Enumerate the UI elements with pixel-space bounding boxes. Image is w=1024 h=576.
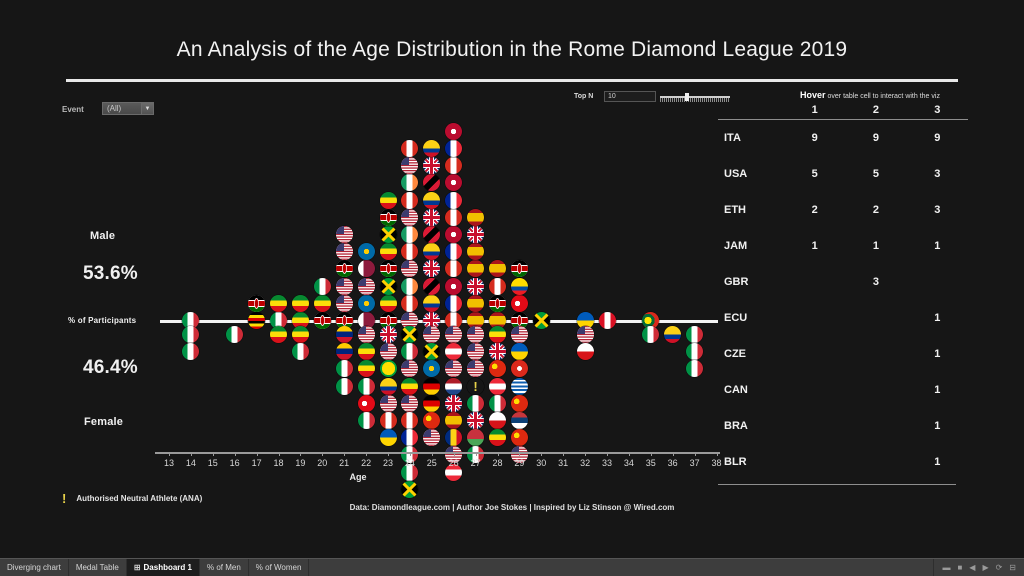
athlete-dot-female-24-2[interactable] xyxy=(401,360,418,377)
flag-usa-icon xyxy=(467,360,484,377)
athlete-dot-male-26-6[interactable] xyxy=(445,209,462,226)
athlete-dot-female-28-3[interactable] xyxy=(489,378,506,395)
flag-usa-icon xyxy=(577,326,594,343)
athlete-dot-female-32-1[interactable] xyxy=(577,343,594,360)
athlete-dot-female-22-1[interactable] xyxy=(358,343,375,360)
medal-table-header-row: 1 2 3 xyxy=(718,104,968,120)
flag-usa-icon xyxy=(401,157,418,174)
country-cell[interactable]: USA xyxy=(718,156,784,192)
country-cell[interactable]: CAN xyxy=(718,372,784,408)
athlete-dot-male-24-5[interactable] xyxy=(401,226,418,243)
athlete-dot-female-27-6[interactable] xyxy=(467,429,484,446)
hover-hint-strong: Hover xyxy=(800,90,826,100)
female-label: Female xyxy=(84,416,123,428)
table-row[interactable]: BLR1 xyxy=(718,444,968,480)
x-tick-label-26: 26 xyxy=(444,458,464,468)
athlete-dot-male-21-4[interactable] xyxy=(336,243,353,260)
athlete-dot-female-24-0[interactable] xyxy=(401,326,418,343)
athlete-dot-male-25-1[interactable] xyxy=(423,295,440,312)
athlete-dot-female-22-2[interactable] xyxy=(358,360,375,377)
athlete-dot-male-21-1[interactable] xyxy=(336,295,353,312)
athlete-dot-female-27-4[interactable] xyxy=(467,395,484,412)
athlete-dot-male-26-8[interactable] xyxy=(445,174,462,191)
flag-ken-icon xyxy=(489,295,506,312)
flag-usa-icon xyxy=(336,295,353,312)
athlete-dot-female-36-0[interactable] xyxy=(664,326,681,343)
bronze-cell[interactable]: 1 xyxy=(907,408,968,444)
bronze-cell[interactable]: 3 xyxy=(907,156,968,192)
dashboard-root: An Analysis of the Age Distribution in t… xyxy=(0,0,1024,576)
x-tick-label-33: 33 xyxy=(597,458,617,468)
athlete-dot-female-27-3[interactable]: ! xyxy=(467,378,484,395)
athlete-dot-male-23-6[interactable] xyxy=(380,209,397,226)
silver-cell[interactable]: 2 xyxy=(845,192,906,228)
dot-column-age-36[interactable] xyxy=(664,0,682,460)
athlete-dot-female-23-4[interactable] xyxy=(380,395,397,412)
sheet-tab-dashboard-1[interactable]: ⊞Dashboard 1 xyxy=(127,559,200,576)
dot-column-age-14[interactable] xyxy=(182,0,200,460)
athlete-dot-male-24-3[interactable] xyxy=(401,260,418,277)
table-row[interactable]: CAN1 xyxy=(718,372,968,408)
sheet-tab-diverging-chart[interactable]: Diverging chart xyxy=(0,559,69,576)
dot-column-age-30[interactable] xyxy=(533,0,551,460)
dot-column-age-18[interactable] xyxy=(270,0,288,460)
table-row[interactable]: BRA1 xyxy=(718,408,968,444)
next-icon[interactable]: ▶ xyxy=(982,564,988,572)
sheet-tab-of-women[interactable]: % of Women xyxy=(249,559,310,576)
dot-column-age-35[interactable] xyxy=(642,0,660,460)
taskbar-spacer xyxy=(309,559,934,576)
athlete-dot-male-25-5[interactable] xyxy=(423,226,440,243)
x-tick-label-22: 22 xyxy=(356,458,376,468)
sheet-tabs: Diverging chartMedal Table⊞Dashboard 1% … xyxy=(0,559,309,576)
athlete-dot-male-20-2[interactable] xyxy=(314,278,331,295)
athlete-dot-male-28-2[interactable] xyxy=(489,278,506,295)
x-axis-title: Age xyxy=(0,472,716,482)
athlete-dot-female-27-0[interactable] xyxy=(467,326,484,343)
x-tick-18 xyxy=(279,452,280,456)
athlete-dot-male-28-1[interactable] xyxy=(489,295,506,312)
athlete-dot-female-19-1[interactable] xyxy=(292,343,309,360)
silver-cell[interactable] xyxy=(845,372,906,408)
athlete-dot-male-21-3[interactable] xyxy=(336,260,353,277)
x-tick-30 xyxy=(541,452,542,456)
x-tick-label-18: 18 xyxy=(269,458,289,468)
athlete-dot-female-23-6[interactable] xyxy=(380,429,397,446)
x-tick-label-36: 36 xyxy=(663,458,683,468)
athlete-dot-male-25-7[interactable] xyxy=(423,192,440,209)
athlete-dot-female-28-5[interactable] xyxy=(489,412,506,429)
athlete-dot-female-37-1[interactable] xyxy=(686,343,703,360)
x-tick-label-34: 34 xyxy=(619,458,639,468)
athlete-dot-female-22-0[interactable] xyxy=(358,326,375,343)
athlete-dot-male-25-2[interactable] xyxy=(423,278,440,295)
athlete-dot-female-25-0[interactable] xyxy=(423,326,440,343)
silver-cell[interactable] xyxy=(845,408,906,444)
athlete-dot-male-26-3[interactable] xyxy=(445,260,462,277)
athlete-dot-female-24-3[interactable] xyxy=(401,378,418,395)
dot-column-age-25[interactable] xyxy=(423,0,441,460)
athlete-dot-female-24-5[interactable] xyxy=(401,412,418,429)
hover-hint-rest: over table cell to interact with the viz xyxy=(826,93,940,100)
x-tick-label-17: 17 xyxy=(247,458,267,468)
athlete-dot-male-22-1[interactable] xyxy=(358,295,375,312)
flag-jam-icon xyxy=(380,226,397,243)
athlete-dot-male-26-1[interactable] xyxy=(445,295,462,312)
gold-cell[interactable] xyxy=(784,264,845,300)
athlete-dot-male-24-6[interactable] xyxy=(401,209,418,226)
x-tick-label-25: 25 xyxy=(422,458,442,468)
athlete-dot-female-19-0[interactable] xyxy=(292,326,309,343)
flag-jam-icon xyxy=(401,326,418,343)
athlete-dot-female-26-6[interactable] xyxy=(445,429,462,446)
layout-icon[interactable]: ⊟ xyxy=(1009,564,1016,572)
medal-table[interactable]: 1 2 3 ITA999USA553ETH223JAM111GBR3ECU1CZ… xyxy=(718,104,968,480)
athlete-dot-male-20-1[interactable] xyxy=(314,295,331,312)
refresh-icon[interactable]: ⟳ xyxy=(996,564,1003,572)
athlete-dot-male-24-10[interactable] xyxy=(401,140,418,157)
silver-cell[interactable]: 9 xyxy=(845,120,906,156)
athlete-dot-male-23-1[interactable] xyxy=(380,295,397,312)
table-row[interactable]: JAM111 xyxy=(718,228,968,264)
gold-cell[interactable]: 9 xyxy=(784,120,845,156)
athlete-dot-female-23-1[interactable] xyxy=(380,343,397,360)
flag-ken-icon xyxy=(336,260,353,277)
country-cell[interactable]: GBR xyxy=(718,264,784,300)
x-tick-14 xyxy=(191,452,192,456)
athlete-dot-female-27-2[interactable] xyxy=(467,360,484,377)
bronze-cell[interactable]: 3 xyxy=(907,192,968,228)
athlete-dot-male-17-1[interactable] xyxy=(248,295,265,312)
country-cell[interactable]: ITA xyxy=(718,120,784,156)
sheet-tab-of-men[interactable]: % of Men xyxy=(200,559,249,576)
flag-jam-icon xyxy=(380,278,397,295)
silver-cell[interactable]: 5 xyxy=(845,156,906,192)
dot-column-age-24[interactable] xyxy=(401,0,419,460)
athlete-dot-male-21-5[interactable] xyxy=(336,226,353,243)
athlete-dot-male-30-0[interactable] xyxy=(533,312,550,329)
bronze-cell[interactable] xyxy=(907,264,968,300)
dot-column-age-19[interactable] xyxy=(292,0,310,460)
bronze-cell[interactable]: 1 xyxy=(907,444,968,480)
silver-cell[interactable]: 3 xyxy=(845,264,906,300)
athlete-dot-male-29-3[interactable] xyxy=(511,260,528,277)
athlete-dot-female-26-3[interactable] xyxy=(445,378,462,395)
athlete-dot-female-25-6[interactable] xyxy=(423,429,440,446)
athlete-dot-female-28-0[interactable] xyxy=(489,326,506,343)
athlete-dot-male-23-4[interactable] xyxy=(380,243,397,260)
athlete-dot-female-21-3[interactable] xyxy=(336,378,353,395)
flag-usa-icon xyxy=(467,326,484,343)
country-cell[interactable]: JAM xyxy=(718,228,784,264)
athlete-dot-male-29-2[interactable] xyxy=(511,278,528,295)
athlete-dot-female-29-2[interactable] xyxy=(511,360,528,377)
athlete-dot-male-21-2[interactable] xyxy=(336,278,353,295)
x-tick-37 xyxy=(695,452,696,456)
athlete-dot-female-29-1[interactable] xyxy=(511,343,528,360)
flag-usa-icon xyxy=(336,226,353,243)
table-row[interactable]: CZE1 xyxy=(718,336,968,372)
bronze-cell[interactable]: 1 xyxy=(907,372,968,408)
table-row[interactable]: ITA999 xyxy=(718,120,968,156)
x-tick-label-21: 21 xyxy=(334,458,354,468)
athlete-dot-male-27-5[interactable] xyxy=(467,226,484,243)
athlete-dot-female-25-4[interactable] xyxy=(423,395,440,412)
athlete-dot-male-23-5[interactable] xyxy=(380,226,397,243)
gold-cell[interactable]: 5 xyxy=(784,156,845,192)
x-tick-34 xyxy=(629,452,630,456)
gold-cell[interactable] xyxy=(784,408,845,444)
flag-jam-icon xyxy=(533,312,550,329)
athlete-dot-male-25-3[interactable] xyxy=(423,260,440,277)
athlete-dot-male-26-7[interactable] xyxy=(445,192,462,209)
athlete-dot-female-18-0[interactable] xyxy=(270,326,287,343)
athlete-dot-male-24-8[interactable] xyxy=(401,174,418,191)
athlete-dot-male-33-0[interactable] xyxy=(599,312,616,329)
flag-gbr-icon xyxy=(423,260,440,277)
dot-column-age-27[interactable]: ! xyxy=(467,0,485,460)
dot-column-age-28[interactable] xyxy=(489,0,507,460)
athlete-dot-female-25-2[interactable] xyxy=(423,360,440,377)
x-tick-13 xyxy=(169,452,170,456)
flag-gbr-icon xyxy=(445,395,462,412)
x-tick-label-35: 35 xyxy=(641,458,661,468)
athlete-dot-female-29-5[interactable] xyxy=(511,412,528,429)
athlete-dot-female-26-2[interactable] xyxy=(445,360,462,377)
x-tick-21 xyxy=(344,452,345,456)
gold-cell[interactable] xyxy=(784,372,845,408)
dot-column-age-29[interactable] xyxy=(511,0,529,460)
flag-ken-icon xyxy=(380,209,397,226)
credits: Data: Diamondleague.com | Author Joe Sto… xyxy=(0,503,1024,512)
silver-cell[interactable] xyxy=(845,336,906,372)
athlete-dot-female-27-5[interactable] xyxy=(467,412,484,429)
taskbar: Diverging chartMedal Table⊞Dashboard 1% … xyxy=(0,558,1024,576)
athlete-dot-male-27-2[interactable] xyxy=(467,278,484,295)
athlete-dot-female-14-0[interactable] xyxy=(182,326,199,343)
athlete-dot-male-26-9[interactable] xyxy=(445,157,462,174)
flag-usa-icon xyxy=(336,278,353,295)
athlete-dot-female-23-5[interactable] xyxy=(380,412,397,429)
athlete-dot-male-24-7[interactable] xyxy=(401,192,418,209)
athlete-dot-male-26-11[interactable] xyxy=(445,123,462,140)
athlete-dot-female-25-3[interactable] xyxy=(423,378,440,395)
athlete-dot-female-26-5[interactable] xyxy=(445,412,462,429)
athlete-dot-female-24-1[interactable] xyxy=(401,343,418,360)
x-tick-28 xyxy=(498,452,499,456)
table-row[interactable]: ECU1 xyxy=(718,300,968,336)
athlete-dot-female-29-0[interactable] xyxy=(511,326,528,343)
athlete-dot-male-25-10[interactable] xyxy=(423,140,440,157)
country-cell[interactable]: ECU xyxy=(718,300,784,336)
athlete-dot-male-23-7[interactable] xyxy=(380,192,397,209)
athlete-dot-female-24-6[interactable] xyxy=(401,429,418,446)
x-tick-label-16: 16 xyxy=(225,458,245,468)
athlete-dot-male-19-1[interactable] xyxy=(292,295,309,312)
col-header-gold: 1 xyxy=(784,104,845,120)
flag-usa-icon xyxy=(401,360,418,377)
athlete-dot-female-29-6[interactable] xyxy=(511,429,528,446)
athlete-dot-male-22-2[interactable] xyxy=(358,278,375,295)
table-row[interactable]: GBR3 xyxy=(718,264,968,300)
athlete-dot-female-22-4[interactable] xyxy=(358,395,375,412)
athlete-dot-female-23-3[interactable] xyxy=(380,378,397,395)
medal-table-head: 1 2 3 xyxy=(718,104,968,120)
medal-table-panel[interactable]: 1 2 3 ITA999USA553ETH223JAM111GBR3ECU1CZ… xyxy=(718,104,968,480)
dot-column-age-23[interactable] xyxy=(380,0,398,460)
athlete-dot-male-25-8[interactable] xyxy=(423,174,440,191)
x-tick-32 xyxy=(585,452,586,456)
flag-usa-icon xyxy=(380,343,397,360)
athlete-dot-female-22-5[interactable] xyxy=(358,412,375,429)
x-tick-label-31: 31 xyxy=(553,458,573,468)
country-cell[interactable]: ETH xyxy=(718,192,784,228)
y-axis-label: % of Participants xyxy=(68,316,136,325)
x-tick-label-24: 24 xyxy=(400,458,420,468)
male-percent: 53.6% xyxy=(83,263,138,285)
dot-column-age-26[interactable] xyxy=(445,0,463,460)
gold-cell[interactable] xyxy=(784,300,845,336)
athlete-dot-female-22-3[interactable] xyxy=(358,378,375,395)
dot-column-age-37[interactable] xyxy=(686,0,704,460)
gold-cell[interactable] xyxy=(784,336,845,372)
bronze-cell[interactable]: 1 xyxy=(907,300,968,336)
dot-column-age-16[interactable] xyxy=(226,0,244,460)
athlete-dot-male-23-3[interactable] xyxy=(380,260,397,277)
athlete-dot-male-17-0[interactable] xyxy=(248,312,265,329)
athlete-dot-female-26-4[interactable] xyxy=(445,395,462,412)
silver-cell[interactable]: 1 xyxy=(845,228,906,264)
athlete-dot-male-25-6[interactable] xyxy=(423,209,440,226)
x-tick-15 xyxy=(213,452,214,456)
dot-column-age-22[interactable] xyxy=(358,0,376,460)
athlete-dot-female-29-4[interactable] xyxy=(511,395,528,412)
athlete-dot-male-18-1[interactable] xyxy=(270,295,287,312)
athlete-dot-female-25-5[interactable] xyxy=(423,412,440,429)
country-cell[interactable]: BRA xyxy=(718,408,784,444)
athlete-dot-female-28-2[interactable] xyxy=(489,360,506,377)
athlete-dot-male-25-4[interactable] xyxy=(423,243,440,260)
silver-cell[interactable] xyxy=(845,444,906,480)
dot-column-age-33[interactable] xyxy=(599,0,617,460)
athlete-dot-female-23-2[interactable] xyxy=(380,360,397,377)
athlete-dot-female-14-1[interactable] xyxy=(182,343,199,360)
athlete-dot-female-28-6[interactable] xyxy=(489,429,506,446)
medal-table-body: ITA999USA553ETH223JAM111GBR3ECU1CZE1CAN1… xyxy=(718,120,968,480)
maximize-icon[interactable]: ■ xyxy=(957,564,962,572)
sheet-tab-label: % of Men xyxy=(207,563,241,572)
flag-usa-icon xyxy=(511,326,528,343)
col-header-bronze: 3 xyxy=(907,104,968,120)
athlete-dot-male-25-9[interactable] xyxy=(423,157,440,174)
athlete-dot-male-26-2[interactable] xyxy=(445,278,462,295)
x-tick-27 xyxy=(476,452,477,456)
athlete-dot-female-21-2[interactable] xyxy=(336,360,353,377)
athlete-dot-female-28-4[interactable] xyxy=(489,395,506,412)
athlete-dot-female-24-4[interactable] xyxy=(401,395,418,412)
taskbar-status-icons: ▬ ■ ◀ ▶ ⟳ ⊟ xyxy=(934,559,1024,576)
athlete-dot-female-28-1[interactable] xyxy=(489,343,506,360)
x-tick-33 xyxy=(607,452,608,456)
dot-column-age-20[interactable] xyxy=(314,0,332,460)
athlete-dot-female-16-0[interactable] xyxy=(226,326,243,343)
athlete-dot-male-28-3[interactable] xyxy=(489,260,506,277)
athlete-dot-female-26-0[interactable] xyxy=(445,326,462,343)
hover-hint: Hover over table cell to interact with t… xyxy=(740,90,1000,100)
athlete-dot-female-27-1[interactable] xyxy=(467,343,484,360)
gold-cell[interactable] xyxy=(784,444,845,480)
athlete-dot-female-24-9[interactable] xyxy=(401,481,418,498)
athlete-dot-male-27-6[interactable] xyxy=(467,209,484,226)
x-tick-label-37: 37 xyxy=(685,458,705,468)
athlete-dot-female-35-0[interactable] xyxy=(642,326,659,343)
x-tick-label-19: 19 xyxy=(290,458,310,468)
athlete-dot-male-26-10[interactable] xyxy=(445,140,462,157)
dot-column-age-21[interactable] xyxy=(336,0,354,460)
flag-gbr-icon xyxy=(467,278,484,295)
athlete-dot-male-27-3[interactable] xyxy=(467,260,484,277)
athlete-dot-male-24-4[interactable] xyxy=(401,243,418,260)
table-row[interactable]: ETH223 xyxy=(718,192,968,228)
athlete-dot-male-27-1[interactable] xyxy=(467,295,484,312)
athlete-dot-male-22-4[interactable] xyxy=(358,243,375,260)
country-cell[interactable]: BLR xyxy=(718,444,784,480)
athlete-dot-male-27-4[interactable] xyxy=(467,243,484,260)
athlete-dot-male-26-5[interactable] xyxy=(445,226,462,243)
athlete-dot-male-24-2[interactable] xyxy=(401,278,418,295)
dot-column-age-32[interactable] xyxy=(577,0,595,460)
minimize-icon[interactable]: ▬ xyxy=(942,564,950,572)
dot-column-age-17[interactable] xyxy=(248,0,266,460)
athlete-dot-female-32-0[interactable] xyxy=(577,326,594,343)
flag-usa-icon xyxy=(467,343,484,360)
athlete-dot-male-22-3[interactable] xyxy=(358,260,375,277)
silver-cell[interactable] xyxy=(845,300,906,336)
bronze-cell[interactable]: 1 xyxy=(907,228,968,264)
prev-icon[interactable]: ◀ xyxy=(969,564,975,572)
athlete-dot-male-24-9[interactable] xyxy=(401,157,418,174)
country-cell[interactable]: CZE xyxy=(718,336,784,372)
x-tick-label-23: 23 xyxy=(378,458,398,468)
athlete-dot-female-21-1[interactable] xyxy=(336,343,353,360)
flag-gbr-icon xyxy=(489,343,506,360)
athlete-dot-male-23-2[interactable] xyxy=(380,278,397,295)
gold-cell[interactable]: 2 xyxy=(784,192,845,228)
athlete-dot-female-25-1[interactable] xyxy=(423,343,440,360)
gold-cell[interactable]: 1 xyxy=(784,228,845,264)
bronze-cell[interactable]: 1 xyxy=(907,336,968,372)
bronze-cell[interactable]: 9 xyxy=(907,120,968,156)
x-tick-31 xyxy=(563,452,564,456)
medal-table-bottom-divider xyxy=(718,484,956,485)
athlete-dot-male-29-1[interactable] xyxy=(511,295,528,312)
x-tick-25 xyxy=(432,452,433,456)
table-row[interactable]: USA553 xyxy=(718,156,968,192)
sheet-tab-medal-table[interactable]: Medal Table xyxy=(69,559,127,576)
athlete-dot-male-26-4[interactable] xyxy=(445,243,462,260)
flag-usa-icon xyxy=(445,326,462,343)
athlete-dot-male-24-1[interactable] xyxy=(401,295,418,312)
x-tick-20 xyxy=(322,452,323,456)
athlete-dot-female-29-3[interactable] xyxy=(511,378,528,395)
athlete-dot-female-21-0[interactable] xyxy=(336,326,353,343)
flag-gbr-icon xyxy=(380,326,397,343)
athlete-dot-female-37-2[interactable] xyxy=(686,360,703,377)
athlete-dot-female-37-0[interactable] xyxy=(686,326,703,343)
athlete-dot-female-23-0[interactable] xyxy=(380,326,397,343)
athlete-dot-male-20-0[interactable] xyxy=(314,312,331,329)
athlete-dot-female-26-1[interactable] xyxy=(445,343,462,360)
